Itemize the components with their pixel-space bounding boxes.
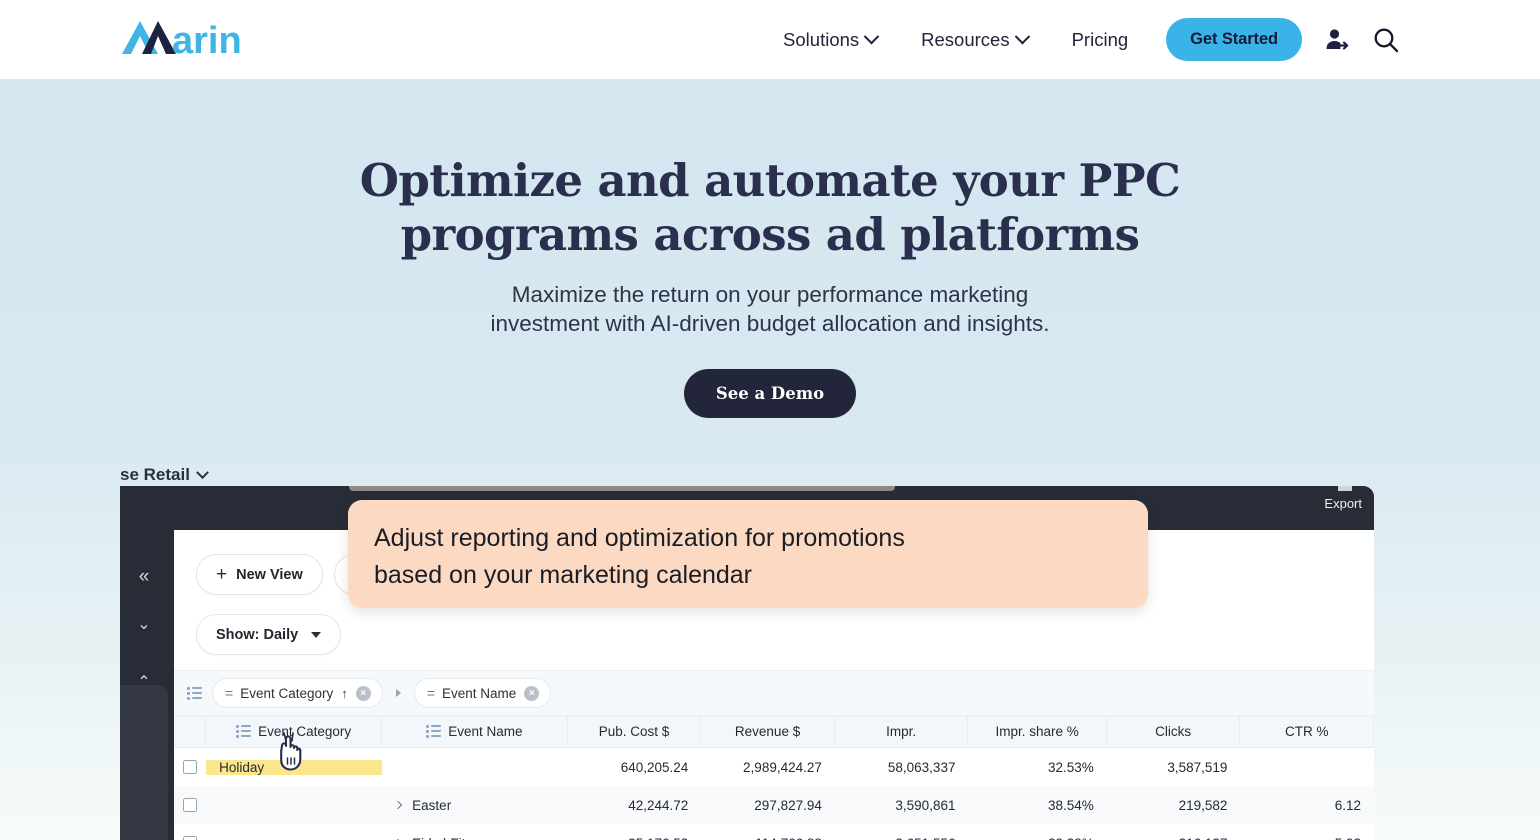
chip-separator-icon	[396, 689, 401, 697]
column-header-revenue[interactable]: Revenue $	[701, 716, 835, 748]
filter-chip-event-category-label: Event Category	[240, 686, 333, 701]
cell-impr-share: 38.54%	[968, 798, 1106, 813]
hierarchy-icon[interactable]	[187, 687, 202, 700]
filter-chip-event-category[interactable]: = Event Category ↑ ×	[212, 678, 383, 708]
cell-revenue: 297,827.94	[701, 798, 835, 813]
see-a-demo-button[interactable]: See a Demo	[684, 369, 856, 418]
column-header-clicks[interactable]: Clicks	[1107, 716, 1241, 748]
new-view-label: New View	[236, 567, 303, 583]
chevron-down-icon	[1014, 29, 1030, 45]
hero-cta-wrapper: See a Demo	[0, 369, 1540, 418]
search-icon[interactable]	[1372, 26, 1400, 54]
equals-icon: =	[427, 685, 434, 701]
cell-event-name-label: Easter	[412, 798, 451, 813]
column-header-impressions[interactable]: Impr.	[835, 716, 969, 748]
chevron-down-icon	[864, 29, 880, 45]
cell-pub-cost: 640,205.24	[568, 760, 702, 775]
select-all-header	[174, 716, 206, 748]
cell-ctr: 5.92	[1240, 836, 1374, 840]
app-header-notch	[1338, 486, 1352, 491]
column-header-ctr[interactable]: CTR %	[1240, 716, 1374, 748]
data-table: Event Category Event Name Pub. Cost $ Re…	[174, 716, 1374, 840]
sort-ascending-icon[interactable]: ↑	[341, 686, 348, 701]
chevron-up-icon[interactable]: ⌃	[120, 675, 168, 691]
filter-chip-event-name-label: Event Name	[442, 686, 516, 701]
nav-item-solutions-label: Solutions	[783, 29, 859, 51]
table-header-row: Event Category Event Name Pub. Cost $ Re…	[174, 716, 1374, 748]
cell-revenue: 114,766.88	[701, 836, 835, 840]
app-header-accent	[349, 486, 895, 491]
export-button[interactable]: Export	[1324, 496, 1362, 511]
cell-event-name[interactable]: Eid al-Fitr	[382, 836, 568, 840]
remove-filter-icon[interactable]: ×	[524, 686, 539, 701]
marin-logo[interactable]: arin	[120, 13, 252, 59]
feature-callout-text: Adjust reporting and optimization for pr…	[374, 520, 1122, 594]
hero-subtitle-line1: Maximize the return on your performance …	[0, 280, 1540, 309]
row-checkbox[interactable]	[183, 836, 197, 840]
cell-impressions: 3,590,861	[835, 798, 969, 813]
remove-filter-icon[interactable]: ×	[356, 686, 371, 701]
column-header-event-category[interactable]: Event Category	[206, 716, 382, 748]
hero-subtitle: Maximize the return on your performance …	[0, 280, 1540, 338]
feature-callout-line2: based on your marketing calendar	[374, 557, 1122, 594]
get-started-button[interactable]: Get Started	[1166, 18, 1302, 61]
app-account-selector[interactable]: se Retail	[120, 465, 207, 485]
cell-event-name-label: Eid al-Fitr	[412, 836, 470, 840]
user-add-icon[interactable]	[1324, 27, 1350, 53]
row-checkbox-cell	[174, 760, 206, 774]
equals-icon: =	[225, 685, 232, 701]
nav-item-pricing-label: Pricing	[1072, 29, 1129, 51]
row-checkbox[interactable]	[183, 760, 197, 774]
new-view-button[interactable]: + New View	[196, 554, 323, 595]
cell-impr-share: 32.53%	[968, 760, 1106, 775]
plus-icon: +	[216, 565, 227, 584]
cell-event-category[interactable]: Holiday	[206, 760, 382, 775]
top-navigation-bar: arin Solutions Resources Pricing Get Sta…	[0, 0, 1540, 79]
expand-row-icon[interactable]	[394, 801, 402, 809]
page-title-line1: Optimize and automate your PPC	[0, 154, 1540, 208]
feature-callout-line1: Adjust reporting and optimization for pr…	[374, 520, 1122, 557]
chevron-down-icon[interactable]: ⌄	[120, 617, 168, 633]
show-daily-label: Show: Daily	[216, 627, 298, 643]
filter-chip-event-name[interactable]: = Event Name ×	[414, 678, 551, 708]
cell-clicks: 216,137	[1107, 836, 1241, 840]
row-checkbox-cell	[174, 836, 206, 840]
hero-subtitle-line2: investment with AI-driven budget allocat…	[0, 309, 1540, 338]
cell-event-name[interactable]: Easter	[382, 798, 568, 813]
column-header-event-name-label: Event Name	[448, 724, 522, 739]
cell-clicks: 219,582	[1107, 798, 1241, 813]
column-header-pub-cost[interactable]: Pub. Cost $	[568, 716, 702, 748]
table-row[interactable]: Easter 42,244.72 297,827.94 3,590,861 38…	[174, 786, 1374, 824]
nav-item-resources-label: Resources	[921, 29, 1009, 51]
cell-clicks: 3,587,519	[1107, 760, 1241, 775]
column-header-event-category-label: Event Category	[258, 724, 351, 739]
cell-revenue: 2,989,424.27	[701, 760, 835, 775]
app-account-label: se Retail	[120, 465, 190, 485]
table-row[interactable]: Holiday 640,205.24 2,989,424.27 58,063,3…	[174, 748, 1374, 786]
cell-impressions: 3,651,556	[835, 836, 969, 840]
hero-section: Optimize and automate your PPC programs …	[0, 79, 1540, 840]
row-checkbox-cell	[174, 798, 206, 812]
page-title: Optimize and automate your PPC programs …	[0, 154, 1540, 262]
cell-pub-cost: 42,244.72	[568, 798, 702, 813]
table-row[interactable]: Eid al-Fitr 35,176.53 114,766.88 3,651,5…	[174, 824, 1374, 840]
app-sidebar-panel	[120, 685, 168, 840]
hierarchy-icon	[426, 725, 441, 738]
feature-callout: Adjust reporting and optimization for pr…	[348, 500, 1148, 608]
collapse-double-left-icon[interactable]: «	[120, 567, 168, 586]
row-checkbox[interactable]	[183, 798, 197, 812]
cell-ctr: 6.12	[1240, 798, 1374, 813]
hierarchy-icon	[236, 725, 251, 738]
filter-chip-bar: = Event Category ↑ × = Event Name ×	[174, 670, 1374, 716]
nav-links: Solutions Resources Pricing Get Started	[761, 0, 1400, 79]
app-sidebar: « ⌄ ⌃	[120, 525, 174, 840]
page-title-line2: programs across ad platforms	[0, 208, 1540, 262]
nav-item-resources[interactable]: Resources	[899, 29, 1049, 51]
cell-pub-cost: 35,176.53	[568, 836, 702, 840]
column-header-event-name[interactable]: Event Name	[382, 716, 567, 748]
cell-impr-share: 29.38%	[968, 836, 1106, 840]
nav-item-solutions[interactable]: Solutions	[761, 29, 899, 51]
cell-impressions: 58,063,337	[835, 760, 969, 775]
chevron-down-icon	[196, 466, 209, 479]
svg-text:arin: arin	[172, 20, 242, 59]
show-daily-dropdown[interactable]: Show: Daily	[196, 614, 341, 655]
nav-item-pricing[interactable]: Pricing	[1050, 29, 1151, 51]
column-header-impr-share[interactable]: Impr. share %	[968, 716, 1106, 748]
show-period-row: Show: Daily	[196, 614, 341, 655]
chevron-down-icon	[311, 632, 321, 638]
